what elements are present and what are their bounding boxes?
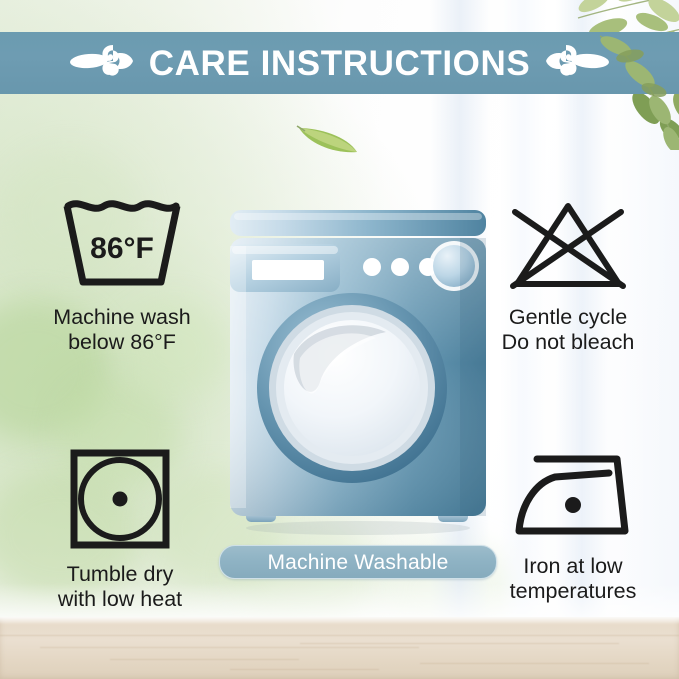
fleur-de-lis-icon [544, 41, 610, 86]
tumble-dry-low-icon [68, 447, 172, 556]
care-label-iron: Iron at low temperatures [510, 554, 637, 605]
care-symbol-machine-wash: 86°F Machine wash below 86°F [14, 196, 230, 356]
wash-tub-icon: 86°F [58, 196, 186, 299]
fleur-de-lis-icon [69, 41, 135, 86]
detergent-drawer [230, 244, 340, 292]
care-instructions-infographic: CARE INSTRUCTIONS [0, 0, 679, 679]
care-symbol-do-not-bleach: Gentle cycle Do not bleach [462, 196, 674, 356]
wash-temperature-text: 86°F [90, 232, 154, 265]
wooden-table-surface [0, 617, 679, 679]
page-title: CARE INSTRUCTIONS [149, 46, 531, 81]
machine-washable-label: Machine Washable [267, 552, 448, 573]
care-symbol-iron: Iron at low temperatures [470, 447, 676, 605]
iron-low-icon [511, 447, 635, 548]
do-not-bleach-triangle-icon [503, 196, 633, 299]
care-label-do-not-bleach: Gentle cycle Do not bleach [502, 305, 635, 356]
machine-washable-badge: Machine Washable [219, 545, 497, 579]
control-indicator-dots [363, 258, 437, 276]
care-symbol-tumble-dry: Tumble dry with low heat [12, 447, 228, 613]
washer-door [257, 293, 447, 483]
banner-header: CARE INSTRUCTIONS [0, 32, 679, 94]
care-label-machine-wash: Machine wash below 86°F [53, 305, 190, 356]
care-label-tumble-dry: Tumble dry with low heat [58, 562, 182, 613]
washing-machine-illustration [224, 206, 492, 536]
